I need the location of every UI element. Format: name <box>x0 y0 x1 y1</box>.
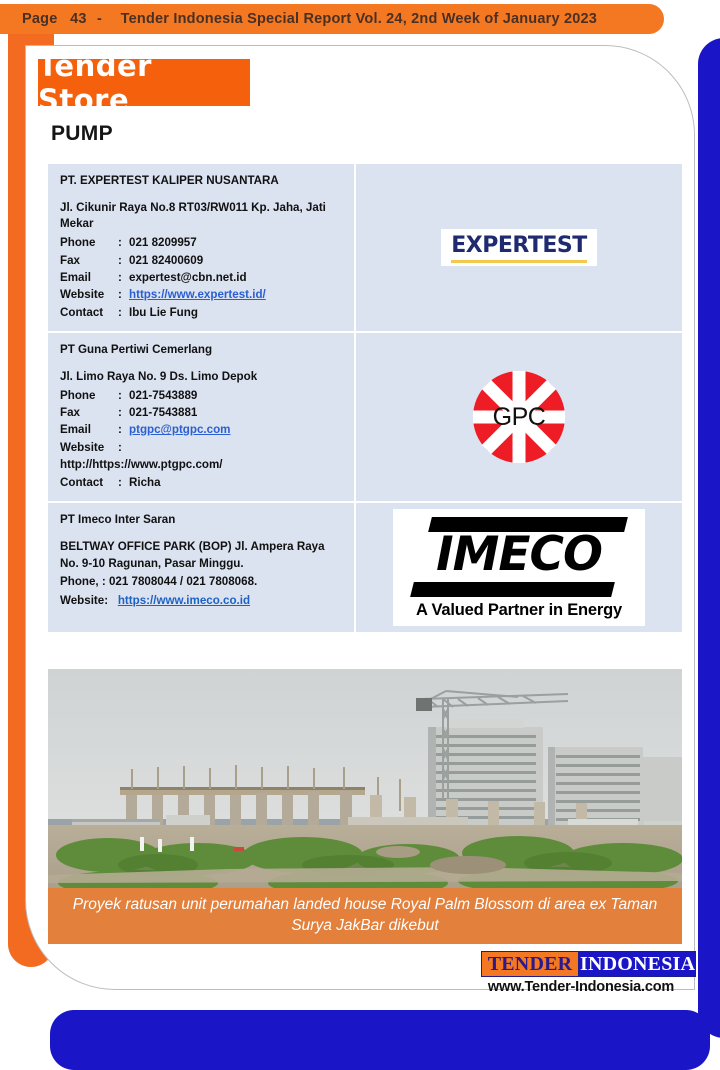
field-colon: : <box>118 439 129 456</box>
construction-site-photo <box>48 669 682 888</box>
vendor-email-link[interactable]: ptgpc@ptgpc.com <box>129 421 344 438</box>
field-label: Email <box>60 269 118 286</box>
header-separator: - <box>91 11 108 27</box>
vendor-field-email: Email : ptgpc@ptgpc.com <box>60 421 344 438</box>
brand-indonesia-text: INDONESIA <box>580 953 695 976</box>
gpc-logo: GPC <box>473 371 565 463</box>
vendor-address: Jl. Limo Raya No. 9 Ds. Limo Depok <box>60 369 344 386</box>
vendor-info-cell: PT. EXPERTEST KALIPER NUSANTARA Jl. Ciku… <box>48 164 356 331</box>
imeco-tagline: A Valued Partner in Energy <box>405 601 633 620</box>
field-label: Fax <box>60 404 118 421</box>
table-row: PT Guna Pertiwi Cemerlang Jl. Limo Raya … <box>48 331 682 501</box>
vendor-logo-cell: GPC <box>356 333 682 501</box>
tender-store-badge: Tender Store <box>38 59 250 106</box>
vendor-field-website: Website : https://www.expertest.id/ <box>60 286 344 303</box>
expertest-underline <box>451 260 586 263</box>
page-header-text: Page 43 - Tender Indonesia Special Repor… <box>22 11 597 27</box>
field-value: Ibu Lie Fung <box>129 304 344 321</box>
field-value: 021 8209957 <box>129 234 344 251</box>
website-label: Website: <box>60 594 108 607</box>
gpc-logo-text: GPC <box>473 371 565 463</box>
vendor-info-cell: PT Imeco Inter Saran BELTWAY OFFICE PARK… <box>48 503 356 632</box>
vendor-name: PT Imeco Inter Saran <box>60 512 344 528</box>
vendor-address: Jl. Cikunir Raya No.8 RT03/RW011 Kp. Jah… <box>60 200 344 234</box>
field-value <box>129 439 344 456</box>
field-colon: : <box>118 387 129 404</box>
table-row: PT Imeco Inter Saran BELTWAY OFFICE PARK… <box>48 501 682 632</box>
imeco-logo: IMECO A Valued Partner in Energy <box>393 509 645 626</box>
vendor-website-link[interactable]: https://www.imeco.co.id <box>118 594 250 607</box>
vendor-table: PT. EXPERTEST KALIPER NUSANTARA Jl. Ciku… <box>48 164 682 632</box>
photo-caption: Proyek ratusan unit perumahan landed hou… <box>48 888 682 944</box>
vendor-logo-cell: IMECO A Valued Partner in Energy <box>356 503 682 632</box>
field-value: 021 82400609 <box>129 252 344 269</box>
vendor-address-line: BELTWAY OFFICE PARK (BOP) Jl. Ampera Ray… <box>60 539 344 556</box>
brand-row: TENDER INDONESIA <box>481 951 681 977</box>
page-card: Tender Store PUMP PT. EXPERTEST KALIPER … <box>25 45 695 990</box>
page-title: PUMP <box>51 122 113 146</box>
field-label: Phone <box>60 234 118 251</box>
vendor-logo-cell: EXPERTEST <box>356 164 682 331</box>
field-colon: : <box>118 234 129 251</box>
vendor-field-website: Website : <box>60 439 344 456</box>
field-colon: : <box>118 304 129 321</box>
vendor-website-url: http://https://www.ptgpc.com/ <box>60 456 344 473</box>
publication-title: Tender Indonesia Special Report Vol. 24,… <box>121 11 597 27</box>
field-colon: : <box>118 286 129 303</box>
bottom-decorative-bar <box>50 1010 710 1070</box>
page-label: Page <box>22 11 57 27</box>
brand-tender-box: TENDER <box>481 951 579 977</box>
vendor-phone-line: Phone, : 021 7808044 / 021 7808068. <box>60 574 344 591</box>
field-label: Website <box>60 286 118 303</box>
vendor-field-contact: Contact : Richa <box>60 474 344 491</box>
field-colon: : <box>118 404 129 421</box>
imeco-bottom-bar <box>410 582 614 597</box>
field-label: Contact <box>60 474 118 491</box>
tender-indonesia-logo[interactable]: TENDER INDONESIA www.Tender-Indonesia.co… <box>481 951 681 995</box>
brand-url[interactable]: www.Tender-Indonesia.com <box>481 979 681 995</box>
vendor-info-cell: PT Guna Pertiwi Cemerlang Jl. Limo Raya … <box>48 333 356 501</box>
field-colon: : <box>118 421 129 438</box>
right-decorative-bar <box>698 38 720 1038</box>
field-colon: : <box>118 269 129 286</box>
vendor-field-fax: Fax : 021 82400609 <box>60 252 344 269</box>
vendor-website-line: Website: https://www.imeco.co.id <box>60 592 344 609</box>
field-colon: : <box>118 474 129 491</box>
field-value: 021-7543881 <box>129 404 344 421</box>
vendor-address-line: No. 9-10 Ragunan, Pasar Minggu. <box>60 556 344 573</box>
vendor-field-phone: Phone : 021-7543889 <box>60 387 344 404</box>
vendor-field-phone: Phone : 021 8209957 <box>60 234 344 251</box>
vendor-field-fax: Fax : 021-7543881 <box>60 404 344 421</box>
field-value: expertest@cbn.net.id <box>129 269 344 286</box>
field-label: Email <box>60 421 118 438</box>
photo-graphic <box>48 669 682 888</box>
expertest-logo-text: EXPERTEST <box>451 233 586 258</box>
field-colon: : <box>118 252 129 269</box>
imeco-top-bar <box>428 517 628 532</box>
page-header-ribbon: Page 43 - Tender Indonesia Special Repor… <box>0 4 664 34</box>
field-label: Phone <box>60 387 118 404</box>
field-label: Website <box>60 439 118 456</box>
field-value: 021-7543889 <box>129 387 344 404</box>
vendor-name: PT. EXPERTEST KALIPER NUSANTARA <box>60 173 344 189</box>
field-value: Richa <box>129 474 344 491</box>
page-number: 43 <box>70 11 87 27</box>
tender-store-label: Tender Store <box>38 49 250 117</box>
table-row: PT. EXPERTEST KALIPER NUSANTARA Jl. Ciku… <box>48 164 682 331</box>
brand-indonesia-box: INDONESIA <box>579 951 696 977</box>
field-label: Fax <box>60 252 118 269</box>
imeco-logo-text: IMECO <box>405 531 633 579</box>
vendor-name: PT Guna Pertiwi Cemerlang <box>60 342 344 358</box>
vendor-field-email: Email : expertest@cbn.net.id <box>60 269 344 286</box>
field-label: Contact <box>60 304 118 321</box>
photo-caption-text: Proyek ratusan unit perumahan landed hou… <box>70 895 660 937</box>
brand-tender-text: TENDER <box>488 953 573 976</box>
expertest-logo: EXPERTEST <box>441 229 596 266</box>
vendor-website-link[interactable]: https://www.expertest.id/ <box>129 286 344 303</box>
vendor-field-contact: Contact : Ibu Lie Fung <box>60 304 344 321</box>
